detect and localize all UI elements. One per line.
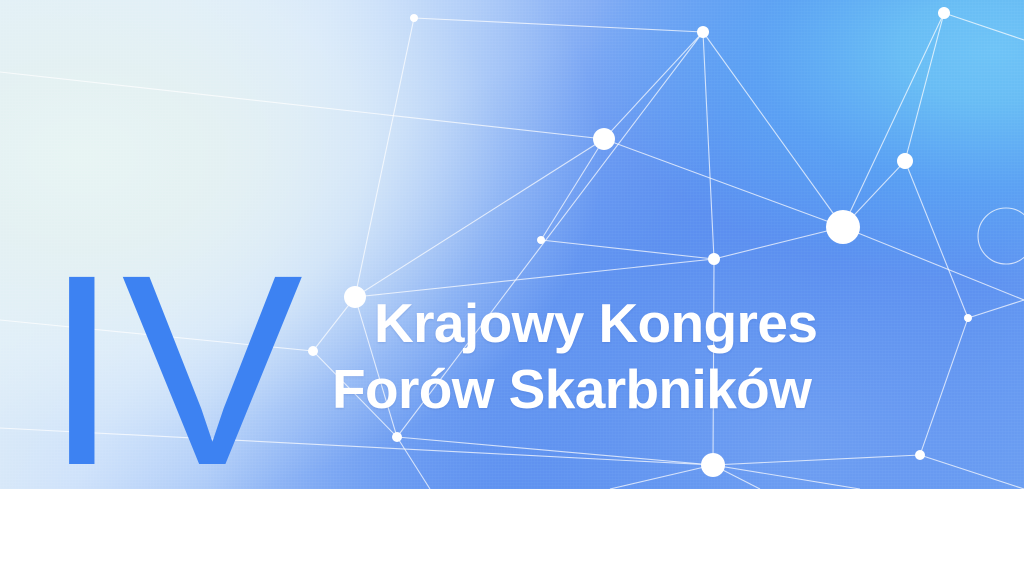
edition-numeral-text: IV: [44, 258, 305, 473]
banner-title: Krajowy Kongres Forów Skarbników: [374, 290, 974, 422]
banner-footer: 10–11 maja 2022: [0, 489, 1024, 577]
title-line-1: Krajowy Kongres: [374, 290, 974, 356]
title-line-2: Forów Skarbników: [332, 356, 974, 422]
congress-banner: IV Krajowy Kongres Forów Skarbników 10–1…: [0, 0, 1024, 577]
edition-numeral: IV: [44, 258, 314, 473]
hero-graphic: IV Krajowy Kongres Forów Skarbników: [0, 0, 1024, 489]
